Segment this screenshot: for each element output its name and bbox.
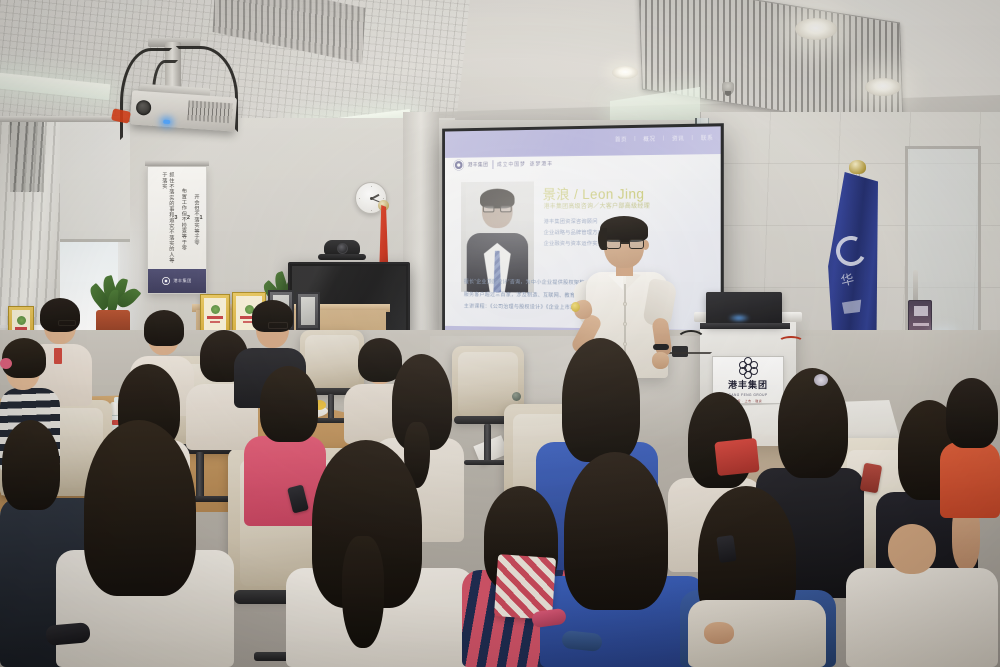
slide-nav-separator: | xyxy=(663,136,665,142)
banner-column-text: 布置工作但不检查等于零 xyxy=(180,188,187,251)
laptop-base xyxy=(700,323,790,329)
eyeglasses-icon xyxy=(606,239,644,249)
projector-power-led xyxy=(163,120,170,124)
flower-logo-icon xyxy=(162,277,170,285)
conference-room-photo: 1 开会但不落实等于零 2 布置工作但不检查等于零 3 抓住不落实的事和追究不落… xyxy=(0,0,1000,667)
sandal xyxy=(45,622,91,646)
slide-nav-item: 联系 xyxy=(701,134,714,142)
slide-brand-tagline-1: 成立中国梦 xyxy=(497,161,526,168)
attendee-hair xyxy=(84,420,196,596)
slide-brand-tagline-2: 逐梦港丰 xyxy=(530,160,553,167)
hair-tie xyxy=(0,358,12,369)
attendee-hair xyxy=(40,298,80,332)
projector-lens-icon xyxy=(136,100,152,116)
banner-column: 2 布置工作但不检查等于零 xyxy=(180,172,191,267)
attendee-hair xyxy=(260,366,318,442)
attendee-torso xyxy=(846,568,998,667)
banner-footer: 港丰集团 xyxy=(148,269,206,293)
attendee xyxy=(940,378,1000,518)
wall-banner: 1 开会但不落实等于零 2 布置工作但不检查等于零 3 抓住不落实的事和追究不落… xyxy=(147,166,207,294)
banner-column-number: 1 xyxy=(199,215,203,222)
attendee-hair xyxy=(946,378,998,448)
panel-display xyxy=(914,306,928,316)
banner-column: 1 开会但不落实等于零 xyxy=(192,172,203,267)
banner-columns: 1 开会但不落实等于零 2 布置工作但不检查等于零 3 抓住不落实的事和追究不落… xyxy=(151,172,203,267)
downlight-icon xyxy=(795,18,837,40)
attendee-hair xyxy=(778,368,848,478)
banner-column-number: 3 xyxy=(174,215,178,222)
eyeglasses-icon xyxy=(268,322,288,329)
award-plaque xyxy=(200,294,230,334)
slide-nav-separator: | xyxy=(634,136,636,142)
attendee-hair xyxy=(564,452,668,610)
slide-brand-divider xyxy=(492,160,493,169)
attendee-hair xyxy=(144,310,184,346)
hair-clip xyxy=(814,374,828,386)
downlight-icon xyxy=(865,78,901,96)
flower-logo-icon xyxy=(739,357,758,376)
handbag xyxy=(714,438,759,476)
laptop-led-glow xyxy=(728,314,750,322)
camera-lens-icon xyxy=(337,243,348,254)
clock-center-pin xyxy=(370,197,373,200)
mobile-phone[interactable] xyxy=(716,535,736,563)
attendee xyxy=(846,520,1000,667)
fire-sprinkler-icon xyxy=(722,82,734,95)
panel-label xyxy=(913,323,929,326)
flower-logo-icon xyxy=(453,160,463,171)
flagpole-finial xyxy=(849,160,866,174)
video-conference-camera xyxy=(324,240,360,255)
attendee-head xyxy=(888,524,936,574)
slide-nav-item: 首页 xyxy=(615,135,627,143)
ponytail xyxy=(342,536,384,648)
red-power-cable xyxy=(778,336,804,348)
attendee xyxy=(286,440,476,667)
eyeglasses-icon xyxy=(58,320,76,326)
camera-mount-base xyxy=(318,254,366,260)
slide-nav-separator: | xyxy=(692,135,694,141)
slide-navigation: 首页 | 概况 | 资讯 | 联系 xyxy=(615,134,714,144)
attendee xyxy=(688,560,828,667)
hand xyxy=(704,622,734,644)
roller-shade[interactable] xyxy=(54,120,130,242)
banner-column-text: 抓住不落实的事和追究不落实的人等于落实 xyxy=(160,172,174,267)
slide-brand-name: 港丰集团 xyxy=(468,161,489,168)
banner-column: 3 抓住不落实的事和追究不落实的人等于落实 xyxy=(160,172,178,267)
projector-vent-grille xyxy=(187,100,232,123)
presentation-clicker[interactable] xyxy=(571,302,580,312)
attendee-torso xyxy=(940,442,1000,518)
slide-subtitle: 港丰集团高级咨询／大客户部高级经理 xyxy=(544,201,650,211)
banner-column-text: 开会但不落实等于零 xyxy=(192,194,199,245)
banner-footer-brand: 港丰集团 xyxy=(173,278,191,284)
slide-nav-item: 资讯 xyxy=(672,134,684,142)
portrait-glasses-icon xyxy=(483,205,512,212)
curtain-shadow-fold xyxy=(10,122,44,192)
shirt-button xyxy=(623,322,627,326)
banner-column-number: 2 xyxy=(187,215,191,222)
slide-nav-item: 概况 xyxy=(643,135,655,143)
shirt-button xyxy=(623,302,627,306)
attendee-hair xyxy=(562,338,640,462)
downlight-icon xyxy=(612,66,638,79)
slide-brand-lockup: 港丰集团 成立中国梦 逐梦港丰 xyxy=(453,158,553,170)
attendee-hair xyxy=(2,420,60,510)
projector xyxy=(130,90,237,131)
